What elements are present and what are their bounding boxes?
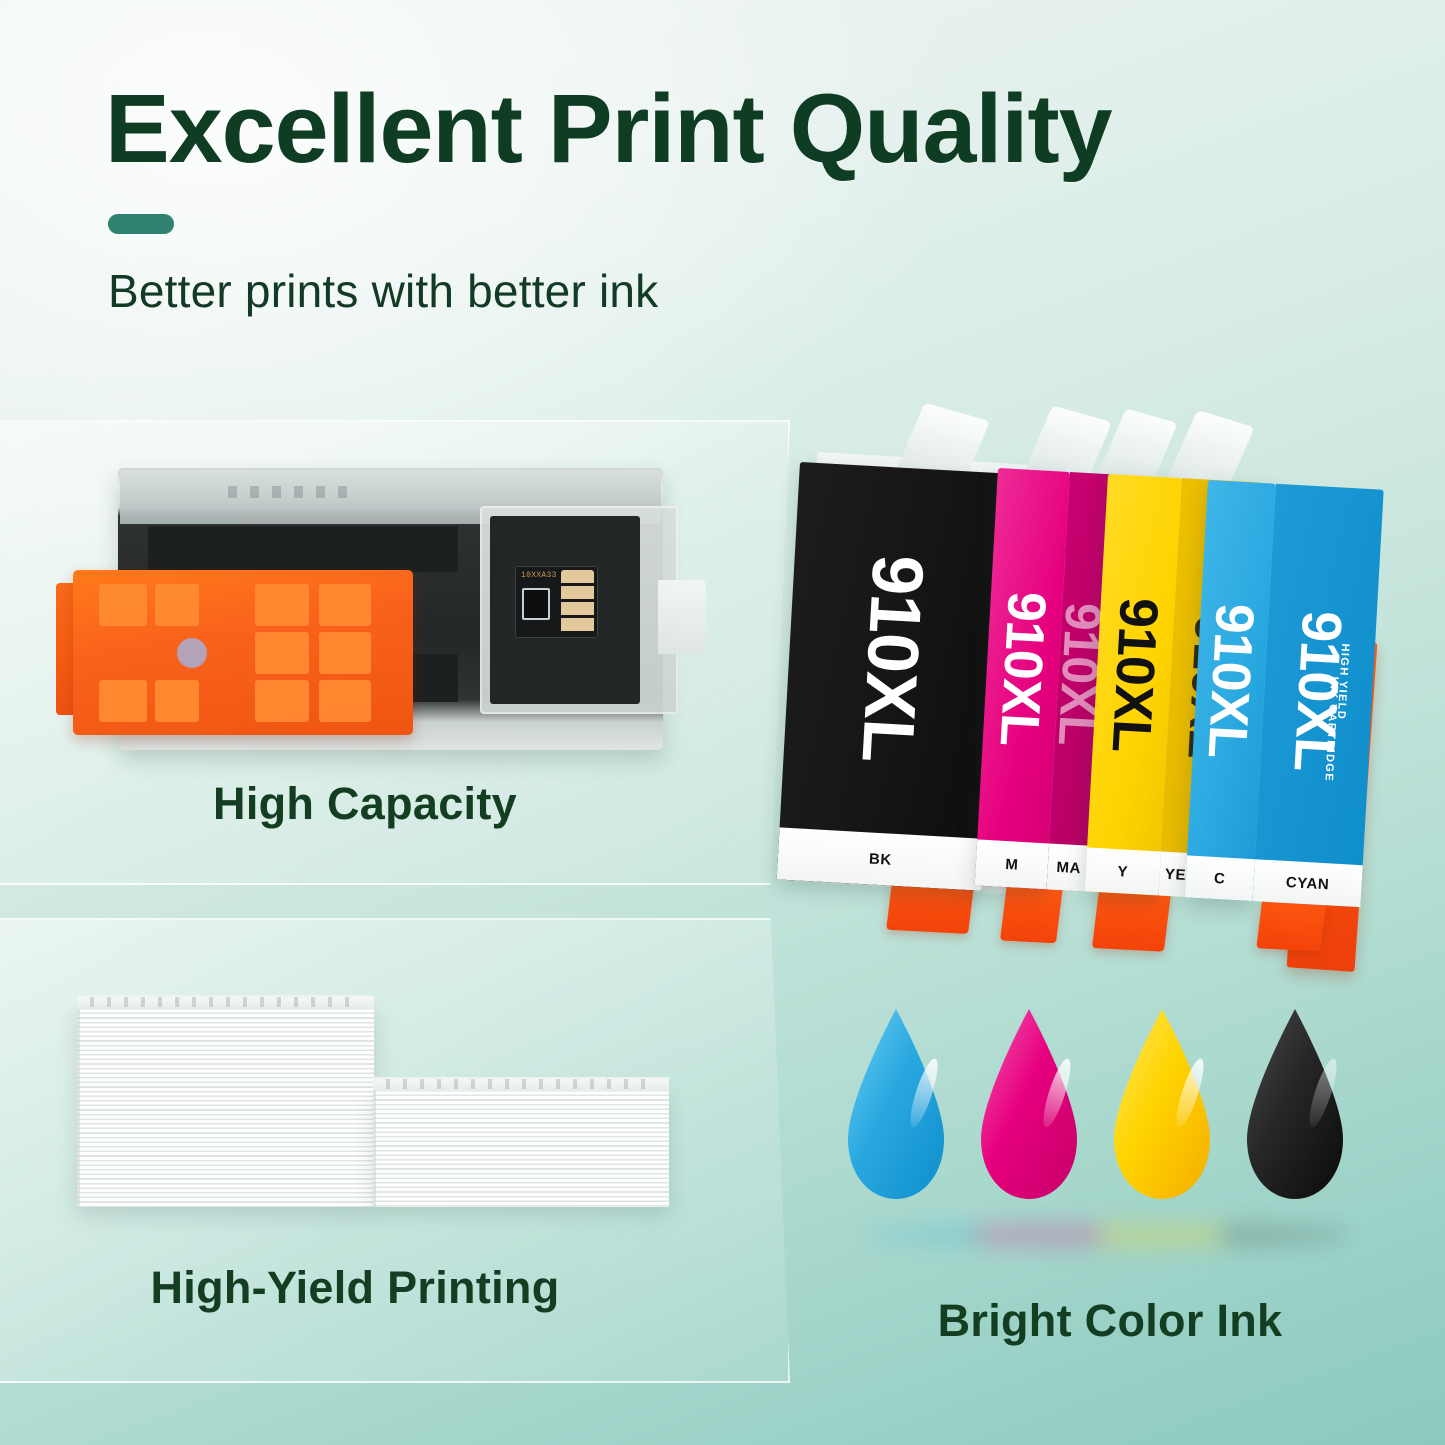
cartridge-magenta-code: M (1005, 856, 1019, 874)
ink-drops (840, 1005, 1360, 1225)
label-high-yield: High-Yield Printing (0, 1262, 745, 1314)
ink-drop-magenta (973, 1005, 1085, 1205)
cartridge-chip-ic (522, 588, 550, 620)
page-title: Excellent Print Quality (105, 78, 1112, 180)
cartridge-chip-contacts (561, 570, 594, 634)
cartridge-yellow-model: 910XL (1098, 569, 1172, 780)
cartridge-clear-tab (658, 580, 706, 654)
cartridge-black-model: 910XL (845, 551, 939, 765)
paper-stack-large-top-texture (90, 997, 360, 1007)
cartridge-cyan-side: 910XL HIGH YIELD INK CARTRIDGE CYAN (1253, 484, 1384, 907)
label-bright-color: Bright Color Ink (895, 1295, 1325, 1347)
paper-stack-small (373, 1087, 669, 1207)
ink-drop-black (1239, 1005, 1351, 1205)
cartridge-cyan-name: CYAN (1285, 873, 1329, 892)
ink-drop-cyan (840, 1005, 952, 1205)
cartridge-group: 910XL BK 910XL M 910XL MA 910XL Y (790, 400, 1400, 960)
header: Excellent Print Quality Better prints wi… (0, 0, 1445, 400)
accent-bar (108, 214, 174, 234)
orange-clip (73, 570, 413, 735)
cartridge-yellow-code: Y (1117, 863, 1129, 881)
cartridge-cyan-code: C (1214, 869, 1226, 887)
label-high-capacity: High Capacity (0, 778, 755, 830)
cartridge-black-face: 910XL BK (777, 462, 1005, 891)
cartridge-lid-markings (228, 486, 358, 498)
ink-drop-yellow (1106, 1005, 1218, 1205)
paper-stack-small-top-texture (386, 1079, 656, 1089)
cartridge-cyan-model: 910XL (1194, 575, 1268, 786)
cartridge-window-upper (148, 526, 458, 572)
page-subtitle: Better prints with better ink (108, 264, 658, 318)
paper-stack-large (77, 1005, 374, 1207)
orange-clip-hole (177, 638, 207, 668)
cartridge-black-code: BK (869, 850, 893, 868)
ink-drops-shadow (860, 1222, 1350, 1248)
cartridge-magenta-name: MA (1056, 858, 1081, 876)
high-capacity-cartridge-photo: 10XXA33 (118, 468, 678, 753)
cartridge-chip-label: 10XXA33 (521, 571, 557, 580)
